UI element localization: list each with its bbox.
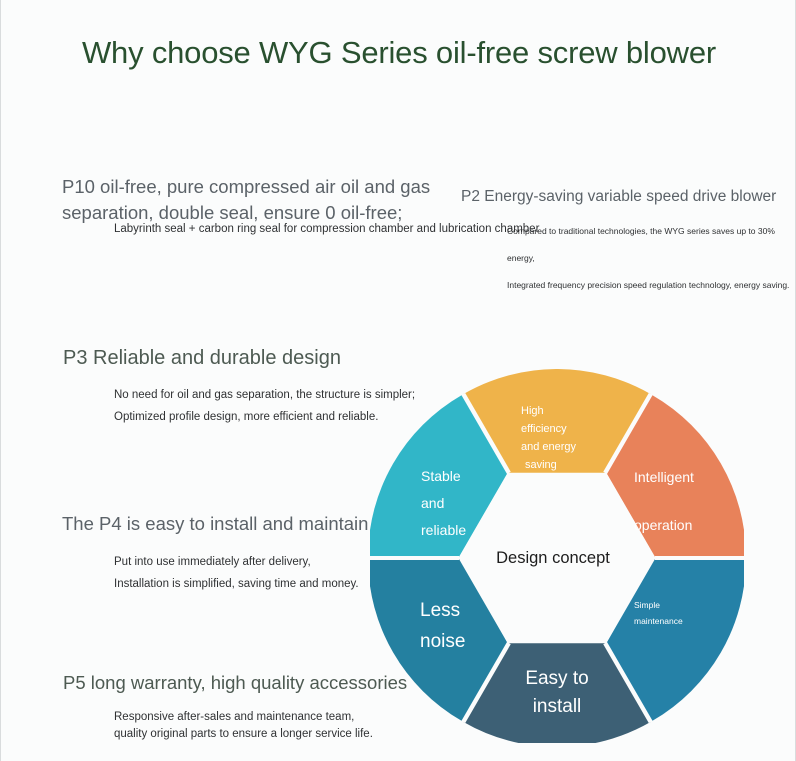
design-concept-center-label: Design concept [496,549,610,567]
page-title: Why choose WYG Series oil-free screw blo… [1,33,796,73]
feature-p2-body: Compared to traditional technologies, th… [507,218,795,299]
feature-p5-heading: P5 long warranty, high quality accessori… [63,670,407,696]
label-stable-line3: reliable [421,522,466,538]
label-noise-line1: Less [420,600,460,621]
feature-p4-heading: The P4 is easy to install and maintain [62,511,368,537]
feature-p2-heading: P2 Energy-saving variable speed drive bl… [461,184,776,210]
design-concept-svg: High efficiency and energy saving Intell… [370,369,744,743]
label-easy-line1: Easy to [525,668,588,689]
feature-p5-body: Responsive after-sales and maintenance t… [114,709,373,743]
label-high-efficiency-line1: High [521,405,544,417]
label-high-efficiency-line3: and energy [521,441,577,453]
infographic-page: Why choose WYG Series oil-free screw blo… [0,0,796,761]
label-simple-line1: Simple [634,600,660,610]
label-high-efficiency-line2: efficiency [521,423,567,435]
label-intelligent-line2: operation [634,517,692,533]
feature-p3-heading: P3 Reliable and durable design [63,345,341,371]
label-noise-line2: noise [420,631,465,652]
label-stable-line1: Stable [421,468,461,484]
design-concept-diagram: High efficiency and energy saving Intell… [370,369,744,743]
label-high-efficiency-line4: saving [525,459,557,471]
label-easy-line2: install [533,696,582,717]
feature-p10-body: Labyrinth seal + carbon ring seal for co… [114,218,539,240]
feature-p4-body: Put into use immediately after delivery,… [114,551,359,595]
label-stable-line2: and [421,495,444,511]
label-intelligent-line1: Intelligent [634,469,694,485]
label-simple-line2: maintenance [634,616,683,626]
